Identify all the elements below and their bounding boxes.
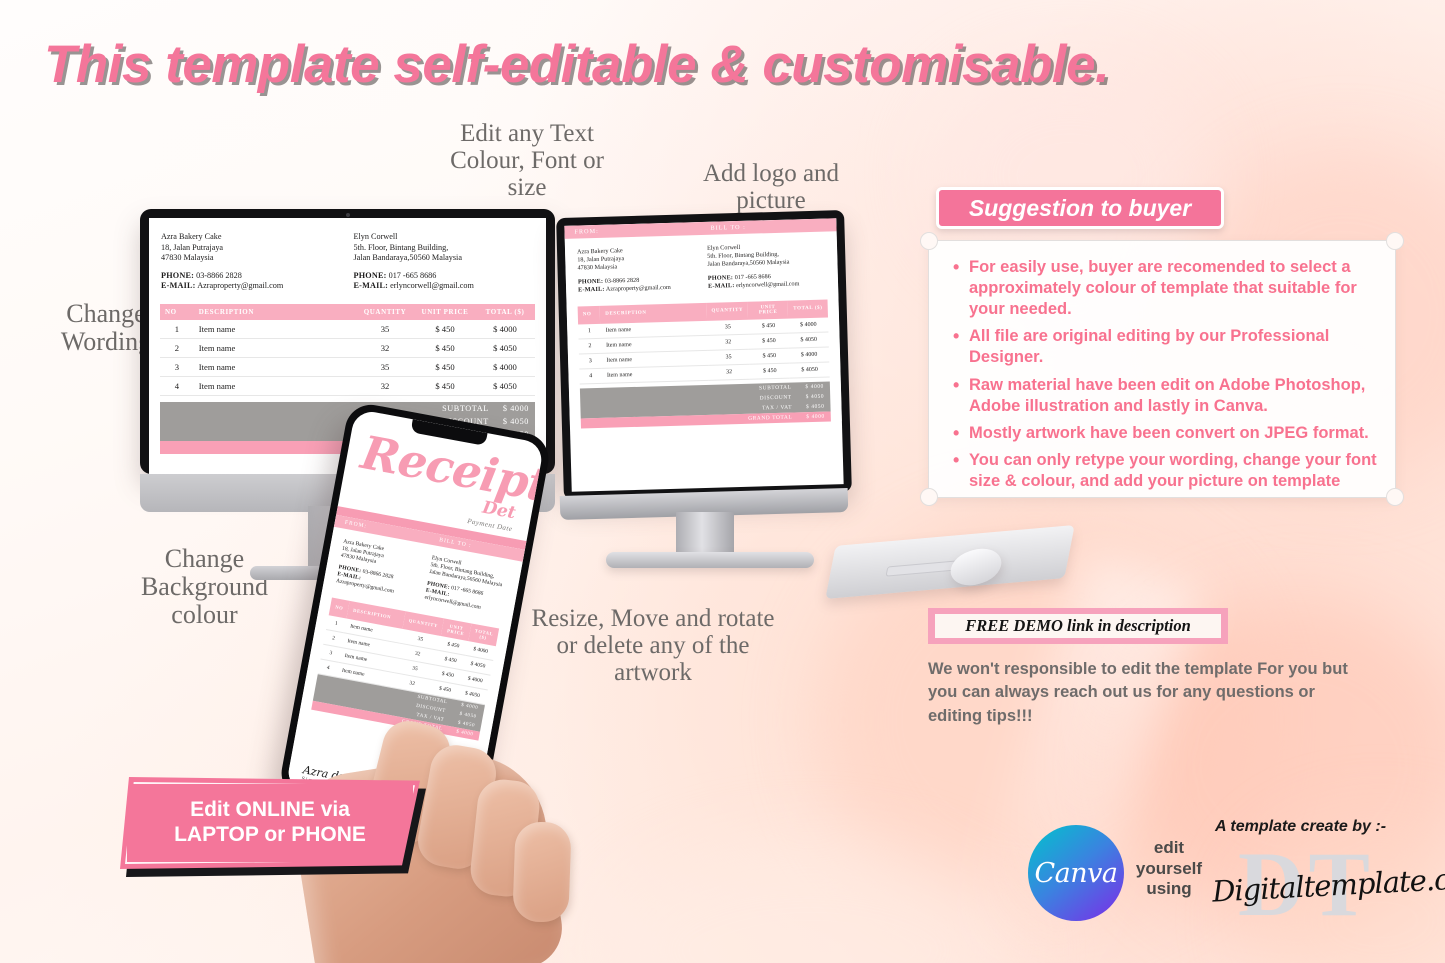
col-no: NO (578, 306, 601, 325)
billto-phone: PHONE: 017 -665 8686 (354, 271, 535, 282)
address-row: Azra Bakery Cake 18, Jalan Putrajaya 478… (565, 231, 839, 298)
keyboard-prop (825, 525, 1074, 599)
card-corner-notch (920, 488, 938, 506)
suggestion-bullet-list: For easily use, buyer are recomended to … (929, 241, 1395, 492)
banner-line-1: Edit ONLINE via (174, 798, 366, 823)
banner-line-2: LAPTOP or PHONE (174, 823, 366, 848)
finger-pinky (512, 821, 571, 923)
edit-online-banner: Edit ONLINE via LAPTOP or PHONE (120, 777, 420, 873)
receipt-document-laptop: FROM: BILL TO : Azra Bakery Cake 18, Jal… (564, 218, 842, 428)
table-row: 1Item name35$ 450$ 4000 (160, 320, 535, 339)
promo-canvas: This template self-editable & customisab… (0, 0, 1445, 963)
from-email: E-MAIL: Azraproperty@gmail.com (161, 281, 342, 292)
list-item: Raw material have been edit on Adobe Pho… (953, 375, 1381, 417)
page-title: This template self-editable & customisab… (44, 34, 1109, 95)
col-quantity: QUANTITY (706, 301, 748, 320)
items-table: NO DESCRIPTION QUANTITY UNIT PRICE TOTAL… (160, 304, 535, 396)
card-corner-notch (920, 232, 938, 250)
table-row: 3Item name35$ 450$ 4000 (160, 357, 535, 376)
from-block: Azra Bakery Cake 18, Jalan Putrajaya 478… (335, 538, 420, 599)
banner-body: Edit ONLINE via LAPTOP or PHONE (120, 777, 420, 869)
items-body: 1Item name35$ 450$ 4000 2Item name32$ 45… (160, 320, 535, 396)
from-block: Azra Bakery Cake 18, Jalan Putrajaya 478… (577, 245, 696, 294)
billto-line1: 5th. Floor, Bintang Building, (354, 243, 535, 254)
billto-email: E-MAIL: erlyncorwell@gmail.com (354, 281, 535, 292)
laptop-stand-foot (606, 552, 814, 568)
card-corner-notch (1386, 488, 1404, 506)
col-description: DESCRIPTION (194, 304, 355, 320)
annotation-change-background: Change Background colour (112, 545, 297, 629)
totals-row: SUBTOTAL$ 4000 (436, 402, 535, 415)
col-total: TOTAL ($) (788, 299, 828, 318)
annotation-edit-text: Edit any Text Colour, Font or size (432, 120, 622, 201)
table-header-row: NO DESCRIPTION QUANTITY UNIT PRICE TOTAL… (160, 304, 535, 320)
col-unit-price: UNIT PRICE (748, 300, 788, 319)
annotation-resize-move: Resize, Move and rotate or delete any of… (528, 605, 778, 686)
billto-block: Elyn Corwell 5th. Floor, Bintang Buildin… (424, 555, 509, 616)
from-name: Azra Bakery Cake (161, 232, 342, 243)
billto-block: Elyn Corwell 5th. Floor, Bintang Buildin… (354, 232, 535, 292)
billto-name: Elyn Corwell (354, 232, 535, 243)
from-line2: 47830 Malaysia (161, 253, 342, 264)
list-item: For easily use, buyer are recomended to … (953, 257, 1381, 320)
billto-block: Elyn Corwell 5th. Floor, Bintang Buildin… (707, 242, 826, 291)
free-demo-badge: FREE DEMO link in description (928, 608, 1228, 644)
edit-yourself-using-label: edit yourself using (1130, 838, 1208, 900)
billto-line2: Jalan Bandaraya,50560 Malaysia (354, 253, 535, 264)
background-blur-5 (600, 840, 1020, 963)
suggestion-badge: Suggestion to buyer (936, 187, 1224, 229)
col-no: NO (160, 304, 194, 320)
laptop-screen: FROM: BILL TO : Azra Bakery Cake 18, Jal… (564, 218, 843, 491)
col-unit-price: UNIT PRICE (415, 304, 475, 320)
list-item: Mostly artwork have been convert on JPEG… (953, 423, 1381, 444)
banner-text: Edit ONLINE via LAPTOP or PHONE (174, 798, 366, 848)
canva-wordmark: Canva (1035, 858, 1118, 889)
address-row: Azra Bakery Cake 18, Jalan Putrajaya 478… (149, 218, 546, 296)
free-demo-label: FREE DEMO link in description (935, 614, 1221, 638)
items-table: NO DESCRIPTION QUANTITY UNIT PRICE TOTAL… (578, 299, 830, 384)
webcam-icon (346, 213, 350, 217)
disclaimer-text: We won't responsible to edit the templat… (928, 658, 1358, 728)
list-item: You can only retype your wording, change… (953, 450, 1381, 492)
card-corner-notch (1386, 232, 1404, 250)
col-total: TOTAL ($) (475, 304, 535, 320)
col-quantity: QUANTITY (355, 304, 415, 320)
laptop-monitor-mockup: FROM: BILL TO : Azra Bakery Cake 18, Jal… (556, 210, 852, 500)
table-row: 2Item name32$ 450$ 4050 (160, 338, 535, 357)
list-item: All file are original editing by our Pro… (953, 326, 1381, 368)
from-line1: 18, Jalan Putrajaya (161, 243, 342, 254)
suggestion-card: For easily use, buyer are recomended to … (928, 240, 1396, 498)
from-block: Azra Bakery Cake 18, Jalan Putrajaya 478… (161, 232, 342, 292)
canva-logo-icon: Canva (1028, 825, 1124, 921)
table-row: 4Item name32$ 450$ 4050 (160, 376, 535, 395)
annotation-add-logo: Add logo and picture (676, 160, 866, 214)
from-phone: PHONE: 03-8866 2828 (161, 271, 342, 282)
